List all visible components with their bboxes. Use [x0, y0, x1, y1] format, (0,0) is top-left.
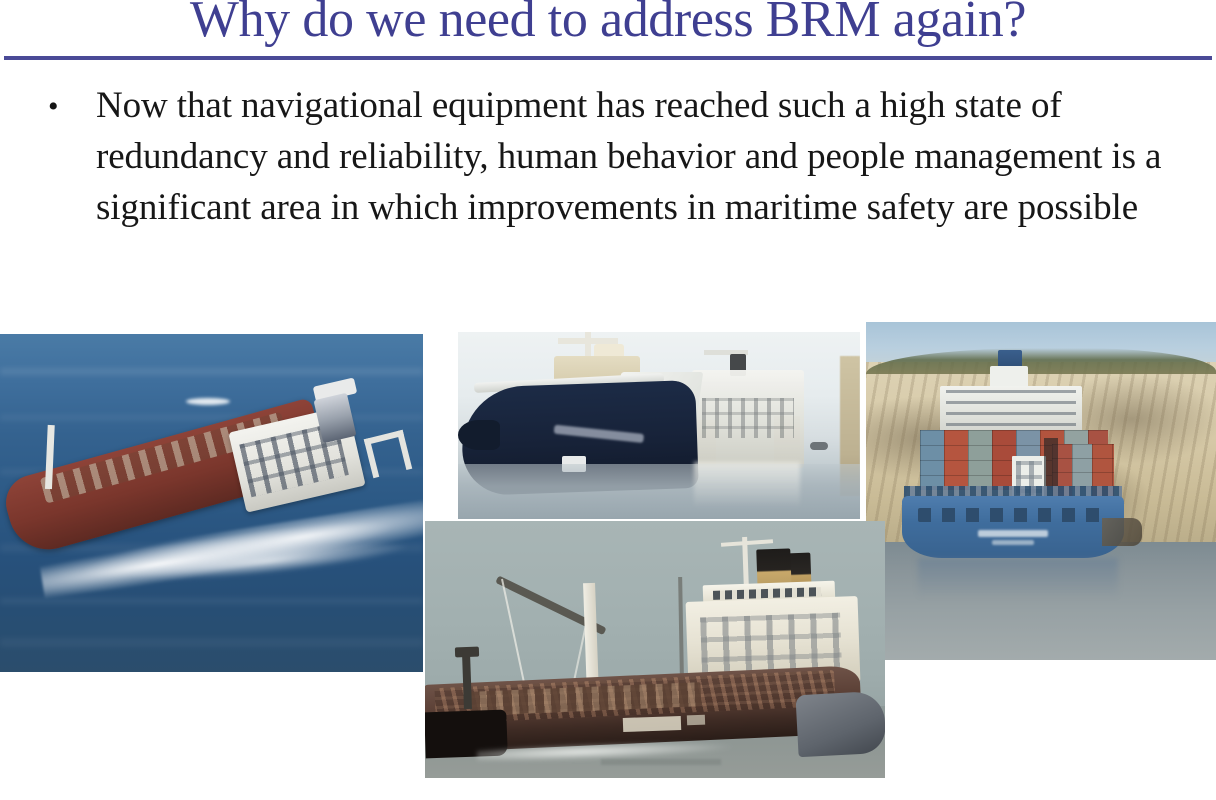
- hull-side-ports: [918, 508, 1108, 522]
- photo-container-ship: [866, 322, 1216, 660]
- hull-reflection: [918, 558, 1118, 598]
- second-ship-superstructure: [692, 370, 804, 468]
- wave-crest: [0, 368, 423, 375]
- stern-section: [795, 691, 885, 758]
- photo-navy-carrier: [458, 332, 860, 519]
- photo-sinking-tanker: [0, 334, 423, 672]
- bullet-marker-icon: •: [44, 80, 96, 134]
- bullet-paragraph: Now that navigational equipment has reac…: [96, 80, 1216, 233]
- photo-listing-freighter: [425, 521, 885, 778]
- hull-port-marking: [992, 540, 1034, 545]
- small-boat: [810, 442, 828, 450]
- bulbous-bow: [458, 420, 500, 450]
- hull-marking: [687, 715, 705, 726]
- hull-marking: [623, 716, 681, 732]
- slide-body-block: • Now that navigational equipment has re…: [44, 80, 1216, 233]
- water-reflection: [694, 462, 800, 508]
- wave-crest: [0, 415, 423, 420]
- image-watermark: [601, 759, 721, 765]
- slide-canvas: Why do we need to address BRM again? • N…: [0, 0, 1216, 800]
- grounded-rocks: [1102, 518, 1142, 546]
- distant-wake: [186, 398, 230, 405]
- hull-name-marking: [978, 530, 1048, 537]
- wave-crest: [0, 638, 423, 647]
- blue-hull: [902, 496, 1124, 558]
- page-title: Why do we need to address BRM again?: [0, 0, 1216, 48]
- list-item: • Now that navigational equipment has re…: [44, 80, 1216, 233]
- slide-title-block: Why do we need to address BRM again?: [0, 0, 1216, 52]
- title-underline-rule: [4, 56, 1212, 60]
